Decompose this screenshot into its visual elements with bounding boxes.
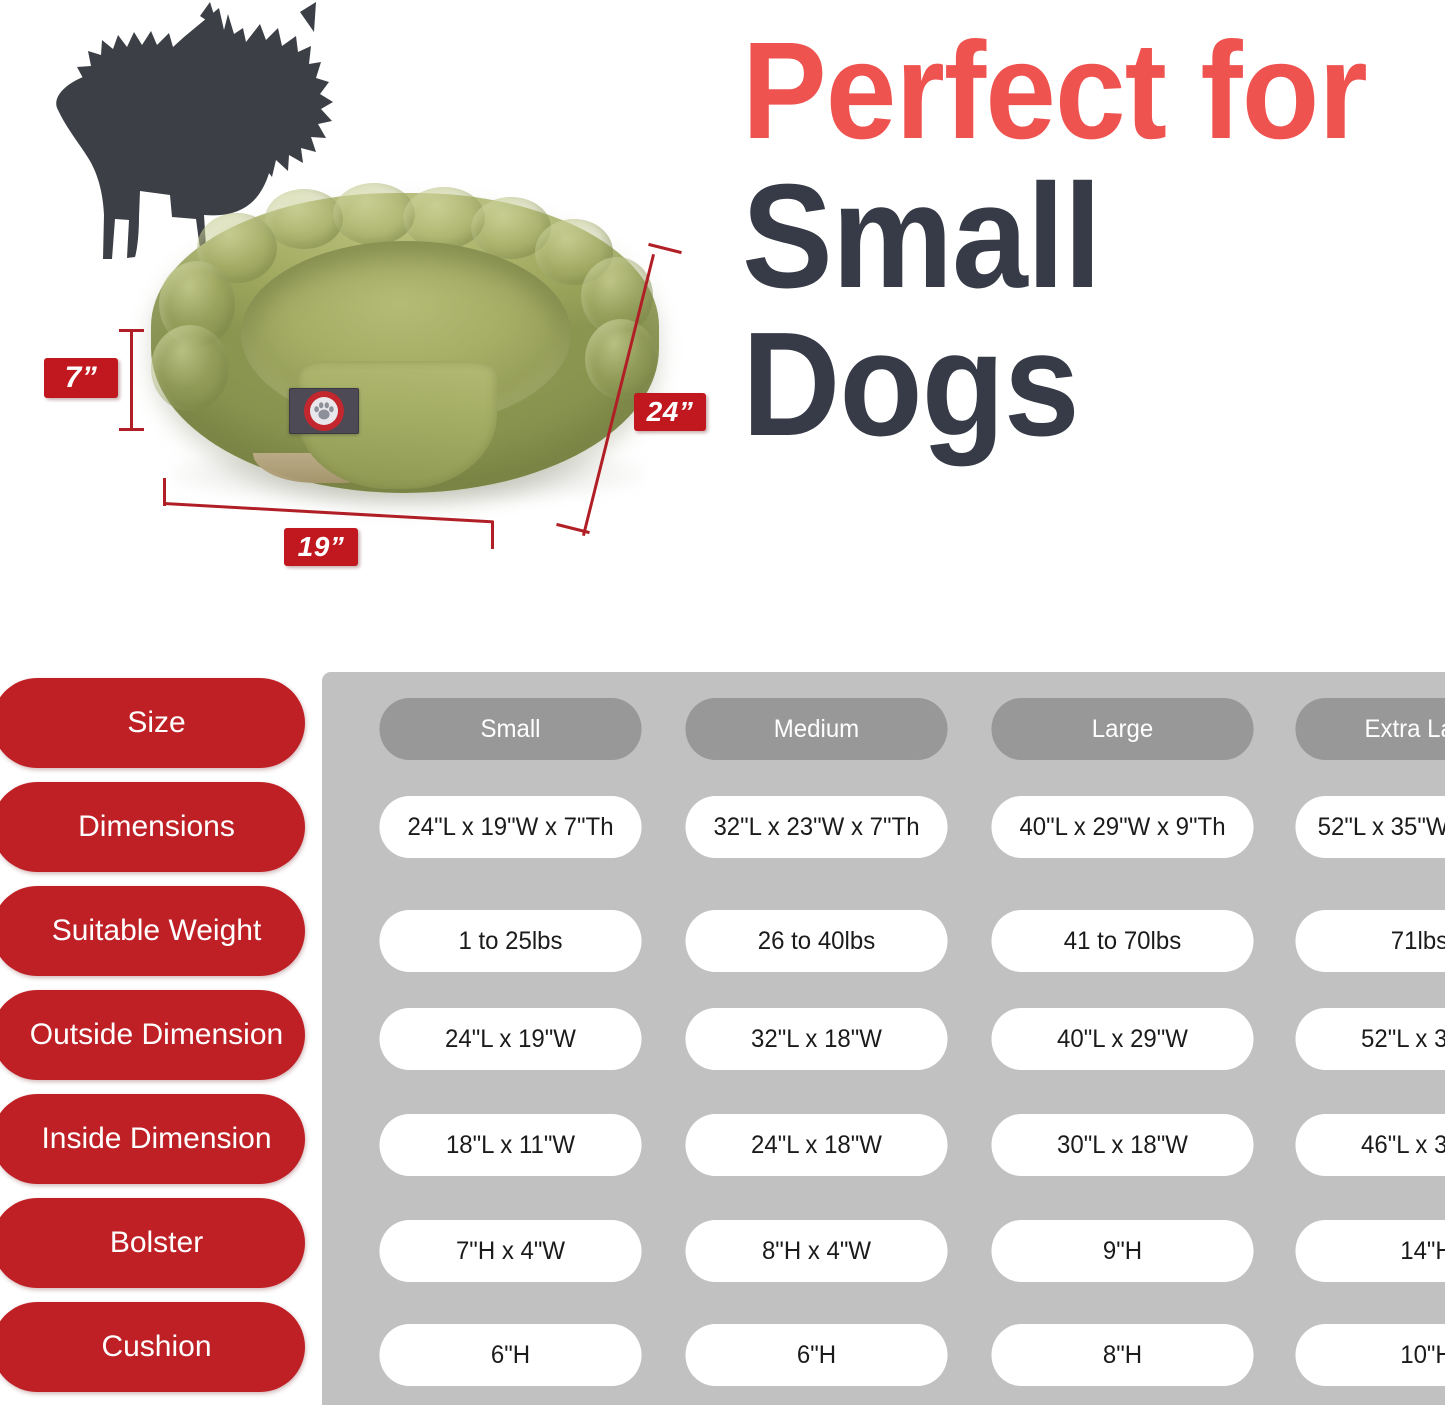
row-label-text: Inside Dimension: [41, 1122, 271, 1156]
table-cell: 52"L x 35"W x 11"Th: [1295, 796, 1445, 858]
table-cell: 24"L x 19"W: [379, 1008, 641, 1070]
height-measure-badge: 7”: [44, 358, 118, 398]
width-measure-cap-left: [163, 478, 166, 506]
table-cell: 71lbs+: [1295, 910, 1445, 972]
size-chart-table: Small Medium Large Extra Large 24"L x 19…: [322, 672, 1445, 1405]
row-label-size: Size: [0, 678, 305, 768]
length-measure-value: 24”: [647, 396, 694, 427]
headline-line-1: Perfect for: [742, 28, 1386, 155]
width-measure-cap-right: [491, 521, 494, 549]
row-label-text: Dimensions: [78, 810, 235, 844]
brand-tag: [289, 388, 359, 434]
hero-section: 7” 24” 19” Perfect for Small Dogs: [0, 0, 1445, 660]
row-label-cushion: Cushion: [0, 1302, 305, 1392]
headline-line-3: Dogs: [742, 317, 1386, 453]
row-label-text: Size: [127, 706, 185, 740]
row-label-text: Cushion: [101, 1330, 211, 1364]
table-cell: 7"H x 4"W: [379, 1220, 641, 1282]
majestic-pet-logo-icon: [304, 391, 344, 431]
paw-print-icon: [313, 401, 335, 421]
table-cell: 24"L x 18"W: [685, 1114, 947, 1176]
table-cell: 8"H: [991, 1324, 1253, 1386]
table-cell: 14"H: [1295, 1220, 1445, 1282]
row-label-text: Bolster: [110, 1226, 203, 1260]
height-measure-cap-bottom: [119, 428, 144, 431]
table-cell: 8"H x 4"W: [685, 1220, 947, 1282]
table-cell: 26 to 40lbs: [685, 910, 947, 972]
table-header-medium: Medium: [685, 698, 947, 760]
row-label-text: Suitable Weight: [52, 914, 262, 948]
row-label-suitable-weight: Suitable Weight: [0, 886, 305, 976]
table-header-large: Large: [991, 698, 1253, 760]
row-label-dimensions: Dimensions: [0, 782, 305, 872]
table-cell: 9"H: [991, 1220, 1253, 1282]
table-cell: 24"L x 19"W x 7"Th: [379, 796, 641, 858]
table-cell: 6"H: [379, 1324, 641, 1386]
row-label-outside-dimension: Outside Dimension: [0, 990, 305, 1080]
width-measure-badge: 19”: [284, 528, 358, 566]
height-measure-value: 7”: [65, 361, 98, 394]
headline-line-2: Small: [742, 169, 1386, 305]
table-cell: 30"L x 18"W: [991, 1114, 1253, 1176]
row-label-column: Size Dimensions Suitable Weight Outside …: [0, 678, 307, 1400]
table-cell: 10"H: [1295, 1324, 1445, 1386]
row-label-inside-dimension: Inside Dimension: [0, 1094, 305, 1184]
table-cell: 32"L x 23"W x 7"Th: [685, 796, 947, 858]
row-label-text: Outside Dimension: [30, 1018, 283, 1052]
table-cell: 40"L x 29"W x 9"Th: [991, 796, 1253, 858]
bolster-puff: [151, 325, 229, 411]
table-cell: 46"L x 30"W: [1295, 1114, 1445, 1176]
table-cell: 18"L x 11"W: [379, 1114, 641, 1176]
headline: Perfect for Small Dogs: [742, 28, 1442, 453]
table-cell: 6"H: [685, 1324, 947, 1386]
table-header-extra-large: Extra Large: [1295, 698, 1445, 760]
table-cell: 32"L x 18"W: [685, 1008, 947, 1070]
table-cell: 52"L x 35"W: [1295, 1008, 1445, 1070]
table-cell: 1 to 25lbs: [379, 910, 641, 972]
table-cell: 41 to 70lbs: [991, 910, 1253, 972]
height-measure-line: [130, 330, 133, 430]
height-measure-cap-top: [119, 329, 144, 332]
table-header-small: Small: [379, 698, 641, 760]
table-cell: 40"L x 29"W: [991, 1008, 1253, 1070]
width-measure-value: 19”: [298, 531, 345, 562]
product-photo-dog-bed: [145, 185, 665, 525]
row-label-bolster: Bolster: [0, 1198, 305, 1288]
bolster-puff: [265, 189, 343, 249]
length-measure-badge: 24”: [634, 393, 706, 431]
